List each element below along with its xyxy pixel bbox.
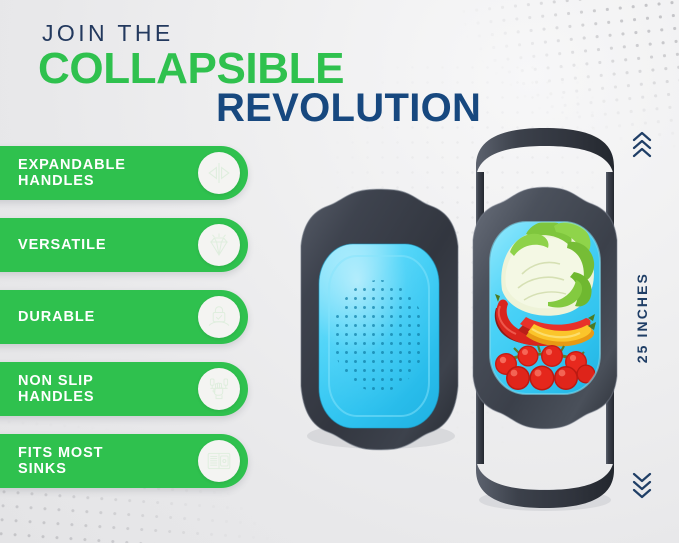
feature-pill-durable[interactable]: DURABLE [0,290,248,344]
product-collapsed-colander [288,186,470,454]
diamond-icon [198,224,240,266]
padlock-check-icon [198,296,240,338]
feature-pill-expandable-handles[interactable]: EXPANDABLE HANDLES [0,146,248,200]
expand-arrows-icon [198,152,240,194]
measurement-label: 25 INCHES [634,272,650,363]
headline-line-collapsible: COLLAPSIBLE [38,47,558,90]
feature-pill-versatile[interactable]: VERSATILE [0,218,248,272]
feature-list: EXPANDABLE HANDLES VERSATILE [0,146,248,506]
hand-grip-icon [198,368,240,410]
chevron-up-triple-icon [630,130,654,163]
measurement-ruler: 25 INCHES [619,130,665,505]
product-extended-colander [462,122,628,514]
chevron-down-triple-icon [630,472,654,505]
headline-block: JOIN THE COLLAPSIBLE REVOLUTION [38,22,558,128]
feature-pill-non-slip-handles[interactable]: NON SLIP HANDLES [0,362,248,416]
infographic-canvas: JOIN THE COLLAPSIBLE REVOLUTION EXPANDAB… [0,0,679,543]
headline-line-join: JOIN THE [42,22,558,45]
feature-pill-fits-most-sinks[interactable]: FITS MOST SINKS [0,434,248,488]
sink-icon [198,440,240,482]
